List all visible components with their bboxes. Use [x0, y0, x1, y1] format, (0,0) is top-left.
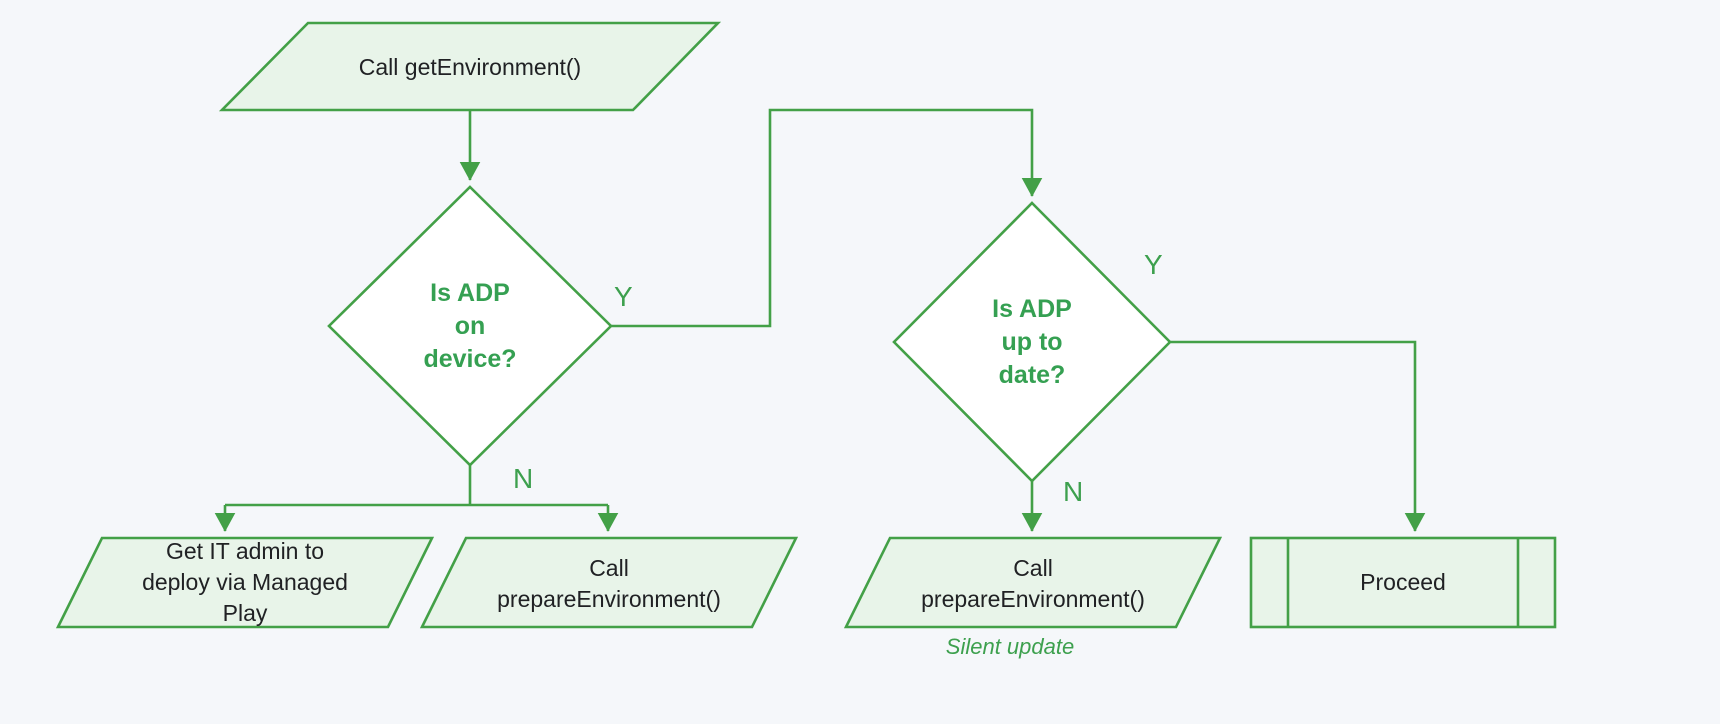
edge-label-uptodate-yes: Y: [1144, 250, 1163, 280]
node-decision-up-to-date-shape: [894, 203, 1170, 481]
flowchart-canvas: Call getEnvironment() Is ADP on device? …: [0, 0, 1720, 724]
edge-label-device-yes: Y: [614, 282, 633, 312]
caption-silent-update: Silent update: [880, 634, 1140, 660]
edge-label-uptodate-no: N: [1063, 477, 1083, 507]
edge-label-device-no: N: [513, 464, 533, 494]
edge-decision2-yes-to-proceed: [1170, 342, 1415, 531]
node-get-it-admin-shape: [58, 538, 432, 627]
node-proceed-shape: [1251, 538, 1555, 627]
node-prepare-env-right-shape: [846, 538, 1220, 627]
node-decision-on-device-shape: [329, 187, 611, 465]
flowchart-graphics: [0, 0, 1720, 724]
node-start-call-shape: [222, 23, 718, 110]
node-prepare-env-left-shape: [422, 538, 796, 627]
